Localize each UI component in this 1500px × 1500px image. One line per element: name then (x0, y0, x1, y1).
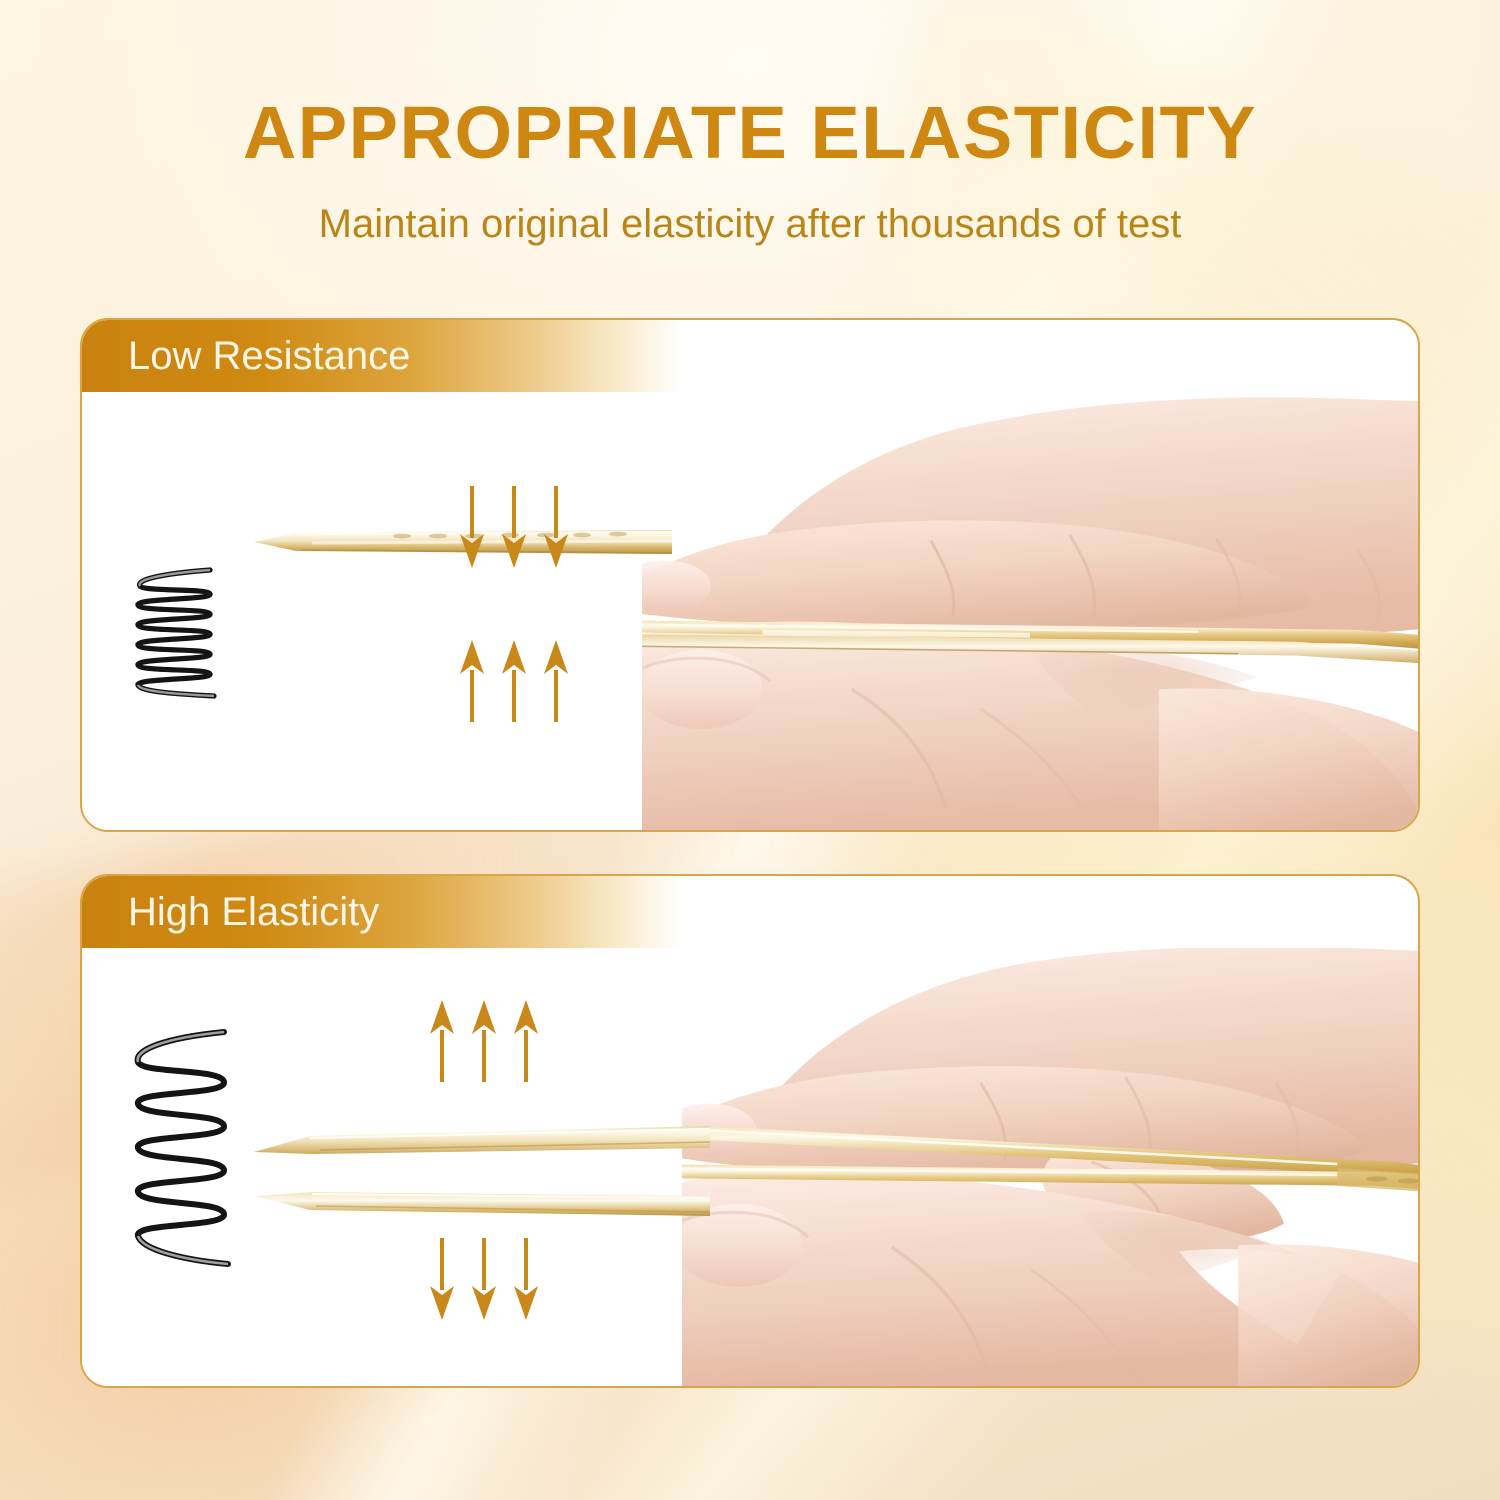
arrows-force-down-low (462, 486, 582, 568)
arrows-force-down-high (432, 1238, 552, 1320)
page-subtitle: Maintain original elasticity after thous… (0, 200, 1500, 248)
panel-low-resistance-body (82, 392, 1418, 830)
infographic-canvas: APPROPRIATE ELASTICITY Maintain original… (0, 0, 1500, 1500)
panel-low-resistance: Low Resistance (80, 318, 1420, 832)
page-title: APPROPRIATE ELASTICITY (0, 96, 1500, 170)
banner-low-resistance: Low Resistance (82, 320, 682, 392)
arrows-rebound-up-high (432, 1000, 552, 1082)
tweezer-tips-open (250, 1118, 710, 1228)
banner-label-low-resistance: Low Resistance (128, 336, 410, 376)
photo-hand-closed-tweezers (642, 392, 1418, 830)
photo-hand-open-tweezers (682, 948, 1418, 1386)
panel-high-elasticity: 8mm rebound easily High Elasticity (80, 874, 1420, 1388)
arrows-force-up-low (462, 640, 582, 722)
spring-stretched-icon (120, 1028, 240, 1268)
banner-label-high-elasticity: High Elasticity (128, 892, 379, 932)
spring-compressed-icon (118, 568, 228, 698)
panel-high-elasticity-body: 8mm rebound easily (82, 948, 1418, 1386)
banner-high-elasticity: High Elasticity (82, 876, 682, 948)
